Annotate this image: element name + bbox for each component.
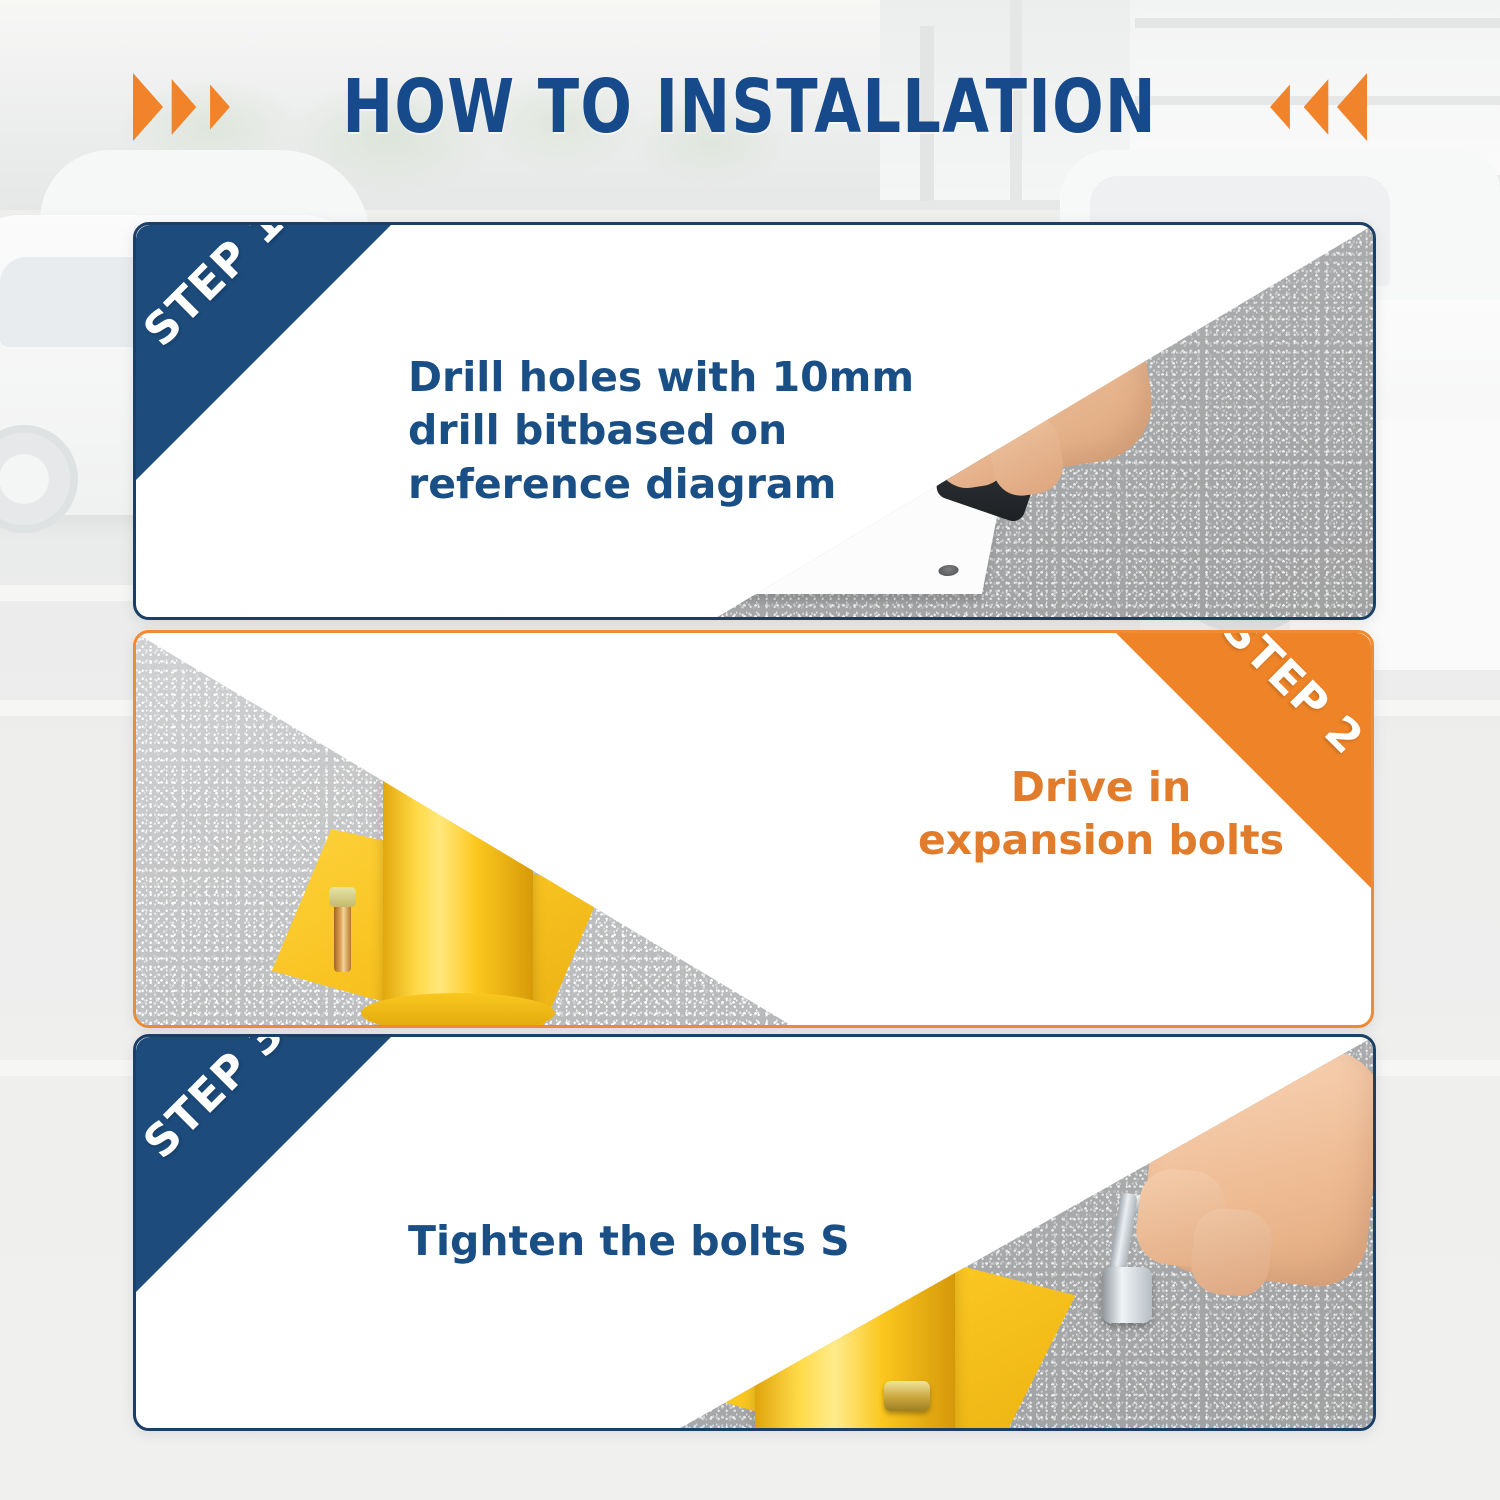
hex-nut [699, 1307, 745, 1337]
step-2-badge: STEP 2 [1116, 633, 1371, 888]
page-header: HOW TO INSTALLATION [0, 48, 1500, 166]
wrench-socket [1102, 1267, 1152, 1323]
hex-nut [884, 1381, 930, 1411]
bollard-post [383, 630, 533, 1025]
chevrons-right-icon [133, 73, 235, 141]
bolt-hole [958, 447, 980, 458]
claw-hammer [529, 638, 863, 864]
step-3-caption: Tighten the bolts S [408, 1215, 850, 1268]
hammer-claw [522, 683, 586, 794]
drill-top-cap [922, 228, 1048, 323]
badge-triangle [136, 1037, 391, 1292]
badge-triangle [136, 225, 391, 480]
building-band-1 [1135, 18, 1500, 28]
step-card-1: Drill holes with 10mm drill bitbased on … [133, 222, 1376, 620]
chevron-left-icon [1270, 85, 1290, 130]
page-title: HOW TO INSTALLATION [343, 64, 1158, 150]
chevron-left-icon [1303, 79, 1328, 135]
hand [1139, 1034, 1376, 1291]
step-card-2: Drive in expansion bolts STEP 2 [133, 630, 1374, 1028]
step-card-3: Tighten the bolts S STEP 3 [133, 1034, 1376, 1431]
finger [1188, 1205, 1275, 1299]
chevron-right-icon [210, 85, 230, 130]
chevron-left-icon [1337, 73, 1367, 141]
step-3-badge: STEP 3 [136, 1037, 391, 1292]
hand [900, 240, 1161, 488]
bolt-hole [685, 565, 707, 576]
chevron-right-icon [172, 79, 197, 135]
hammer-head [530, 664, 637, 816]
step-1-caption: Drill holes with 10mm drill bitbased on … [408, 351, 914, 511]
hammer-handle [621, 670, 863, 736]
step-1-badge: STEP 1 [136, 225, 391, 480]
chevrons-left-icon [1265, 73, 1367, 141]
bolt-hole [937, 565, 959, 576]
chevron-right-icon [133, 73, 163, 141]
expansion-bolt [636, 847, 653, 919]
expansion-bolt [334, 900, 351, 972]
